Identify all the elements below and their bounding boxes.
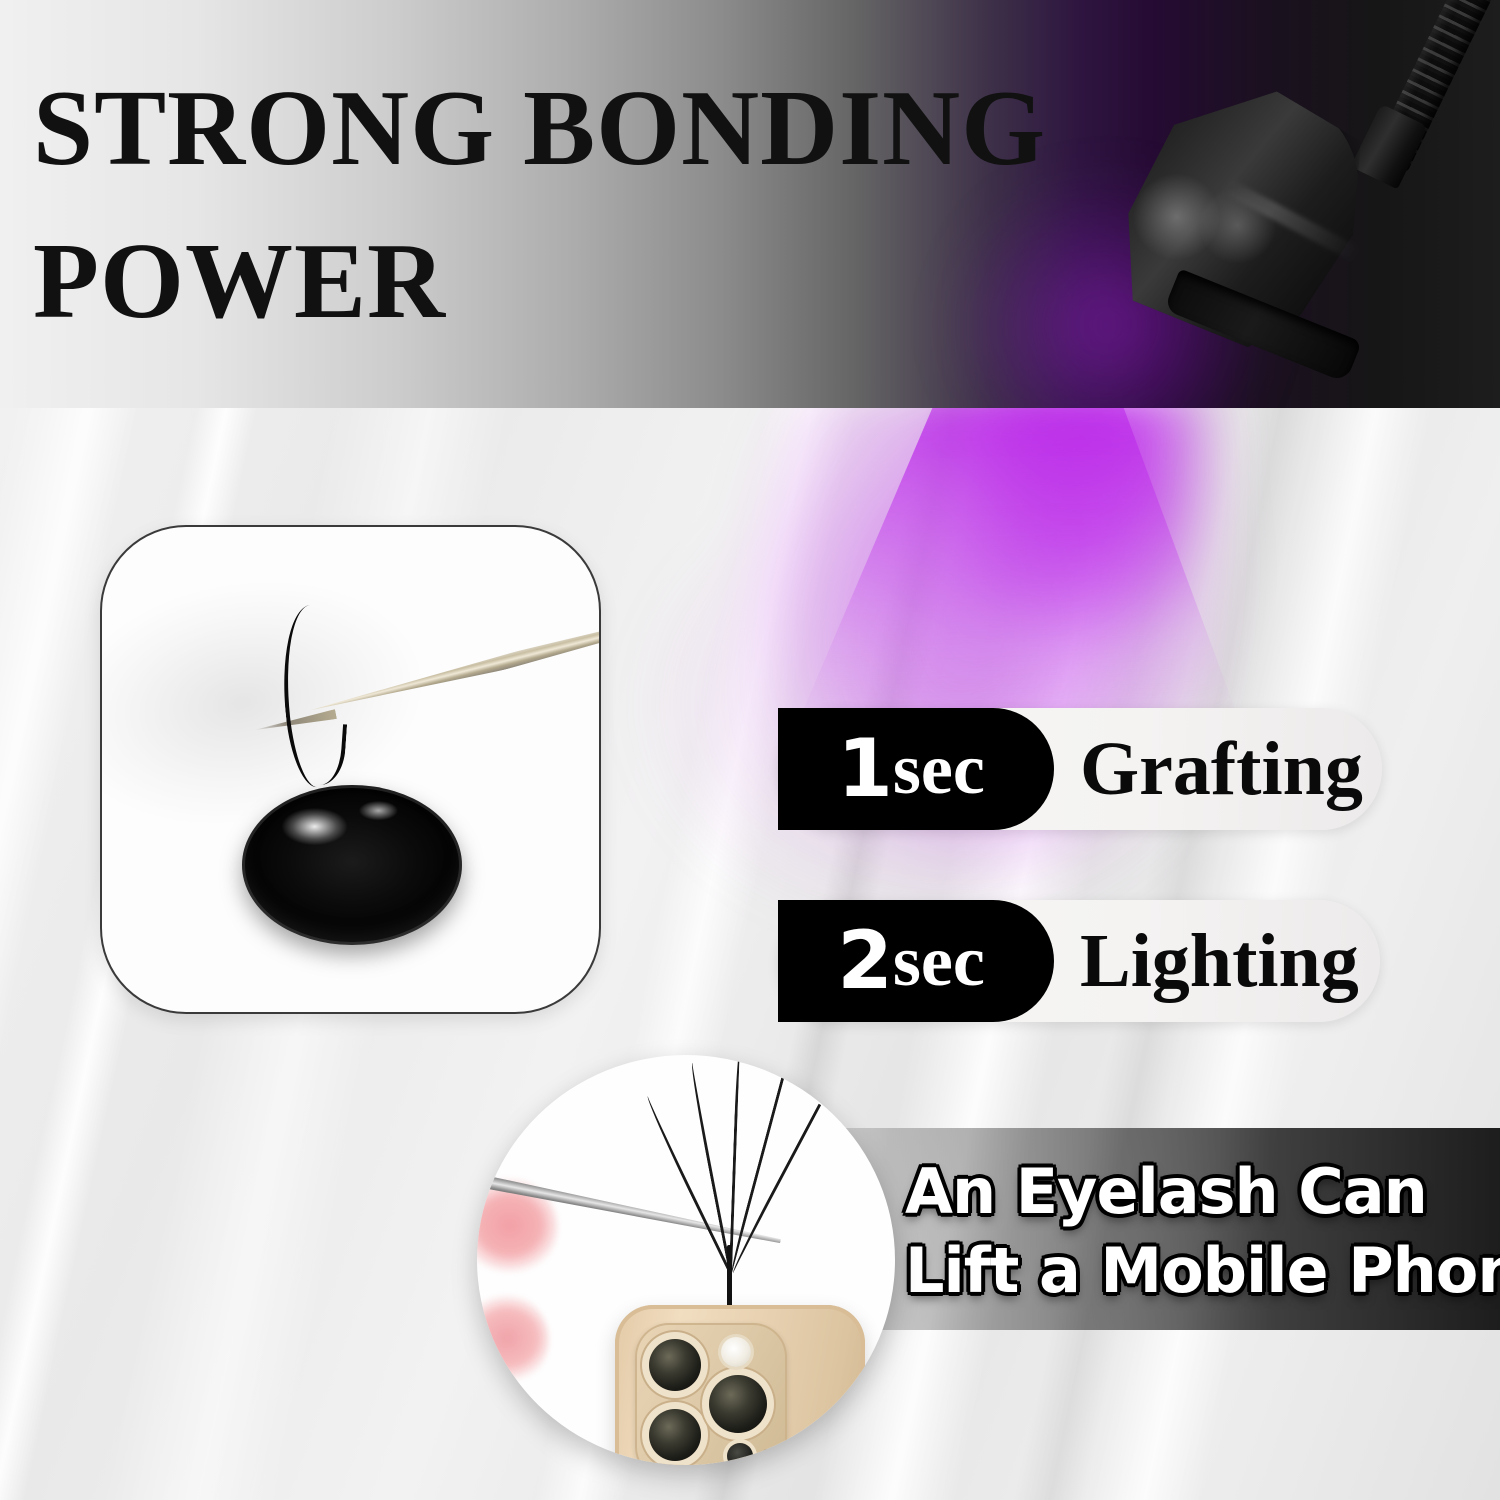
- product-poster: STRONG BONDING POWER 1 sec Grafting 2 se…: [0, 0, 1500, 1500]
- caption-line-2: Lift a Mobile Phone: [905, 1231, 1500, 1310]
- page-title: STRONG BONDING POWER: [33, 52, 1213, 359]
- badge-unit: sec: [893, 733, 985, 805]
- badge-number: 1: [837, 729, 891, 809]
- camera-lens-icon: [649, 1409, 701, 1461]
- speed-badge-grafting[interactable]: 1 sec Grafting: [778, 708, 1382, 830]
- caption-text: An Eyelash Can Lift a Mobile Phone: [905, 1152, 1500, 1311]
- uv-lamp: [1130, 0, 1500, 410]
- badge-time-capsule: 1 sec: [778, 708, 1054, 830]
- badge-unit: sec: [893, 925, 985, 997]
- eyelash-fan-icon: [663, 1055, 803, 1273]
- badge-label: Lighting: [1080, 923, 1359, 999]
- badge-number: 2: [837, 921, 891, 1001]
- lidar-sensor-icon: [727, 1443, 753, 1465]
- phone-lift-photo: [477, 1055, 895, 1465]
- speed-badge-lighting[interactable]: 2 sec Lighting: [778, 900, 1380, 1022]
- camera-flash-icon: [721, 1337, 751, 1367]
- camera-lens-icon: [649, 1339, 701, 1391]
- headline-line-1: STRONG BONDING: [33, 52, 1213, 205]
- glue-droplet-rim: [242, 785, 462, 945]
- phone-camera-plate: [635, 1323, 787, 1465]
- camera-microphone-icon: [763, 1449, 769, 1455]
- badge-time-capsule: 2 sec: [778, 900, 1054, 1022]
- fingertip-icon: [477, 1291, 549, 1389]
- eyelash-tweezers-icon: [525, 615, 601, 742]
- eyelash-fan-stem: [727, 1245, 732, 1311]
- headline-line-2: POWER: [33, 205, 1213, 358]
- glue-demo-panel: [100, 525, 601, 1014]
- camera-lens-icon: [709, 1375, 767, 1433]
- badge-label: Grafting: [1080, 731, 1363, 807]
- caption-line-1: An Eyelash Can: [905, 1152, 1500, 1231]
